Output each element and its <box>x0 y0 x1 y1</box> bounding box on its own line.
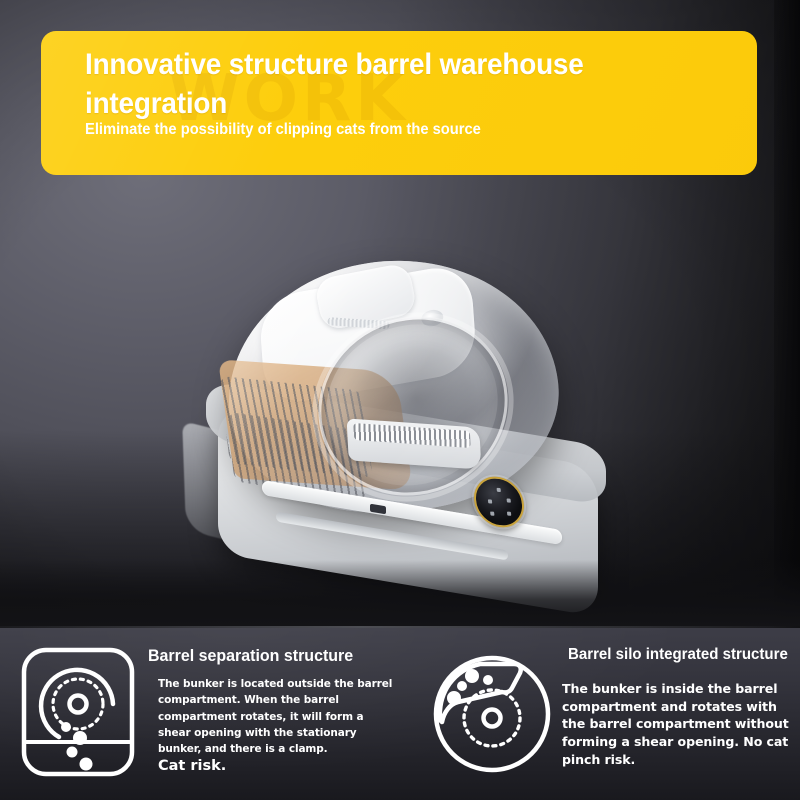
barrel-separation-diagram-icon <box>18 642 138 782</box>
dial-icon-3 <box>507 498 511 502</box>
panel-body: The bunker is inside the barrel compartm… <box>562 680 798 768</box>
dial-icon-1 <box>497 488 501 492</box>
panel-body: The bunker is located outside the barrel… <box>158 676 398 757</box>
barrel-silo-integrated-diagram-icon <box>428 642 556 782</box>
panel-barrel-separation: Barrel separation structure The bunker i… <box>0 628 410 800</box>
dial-icon-5 <box>507 512 511 516</box>
section-transition-shade <box>0 560 800 626</box>
panel-barrel-silo-integrated: Barrel silo integrated structure The bun… <box>410 628 800 800</box>
banner-title: Innovative structure barrel warehouse in… <box>85 45 680 123</box>
panel-title: Barrel separation structure <box>148 646 353 666</box>
dial-icon-4 <box>490 512 494 516</box>
panel-title: Barrel silo integrated structure <box>568 646 788 664</box>
header-banner: WORK Innovative structure barrel warehou… <box>41 31 757 175</box>
dial-icon-2 <box>488 499 492 503</box>
product-marketing-image: WORK Innovative structure barrel warehou… <box>0 0 800 800</box>
banner-subtitle: Eliminate the possibility of clipping ca… <box>85 119 637 142</box>
panel-note: Cat risk. <box>158 758 226 774</box>
